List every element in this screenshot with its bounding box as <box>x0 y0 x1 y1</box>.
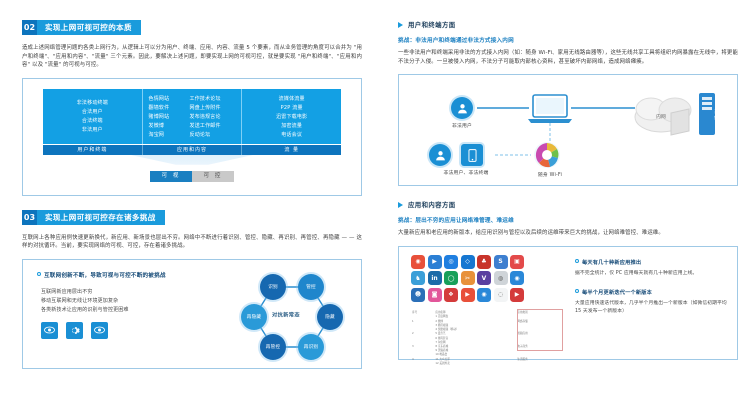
user-avatar-icon: ☻ <box>411 288 425 302</box>
figure-title: 互联网创新不断，导致可视与可控不断的被挑战 <box>44 273 166 279</box>
section-title: 实现上网可视可控存在诸多挑战 <box>37 210 165 225</box>
table-footer: 用户和终端 应用和内容 流 量 <box>43 144 341 155</box>
challenge-line: 挑战：非法用户和终端通过非法方式接入内网 <box>398 36 738 44</box>
table-column-apps: 色情网站 工作技术论坛 翻墙软件 网盘上传附件 赌博网站 发布违规言论 发微 <box>143 89 243 145</box>
cycle-node-reidentify: 再识别 <box>298 334 324 360</box>
cycle-diagram: 识别 管控 隐藏 再识别 再管控 再隐藏 对抗新常态 <box>227 268 345 362</box>
video-play-icon: ▶ <box>428 255 442 269</box>
pill-controllable[interactable]: 可 控 <box>192 171 234 182</box>
table-cell: 翻墙软件 <box>149 105 183 112</box>
table-cell: 发送工作邮件 <box>190 123 236 130</box>
table-cell: 迅雷下载电影 <box>276 114 307 121</box>
challenge-line: 挑战：层出不穷的应用让网络难管理、难运维 <box>398 216 738 224</box>
challenge-icon-row <box>41 322 108 339</box>
block2-paragraph: 大量新应用和老应用的新版本，给应用识别与管控以及后续的运维带来巨大的挑战，让网络… <box>398 229 738 238</box>
block1-paragraph: 一些非法用户和终端采用非法的方式接入内网（如：随身 Wi-Fi、家用无线路由器等… <box>398 49 738 66</box>
highlight-box <box>517 309 563 351</box>
table-column-users: 非法移动终端 合法用户 合法终端 非法用户 <box>43 89 143 145</box>
table-cell: P2P 流量 <box>281 105 303 112</box>
section-number: 02 <box>22 20 37 35</box>
table-cell <box>411 361 434 365</box>
table-cell: 发微博 <box>149 123 183 130</box>
play-store-icon: ▶ <box>461 288 475 302</box>
table-row: 翻墙软件 网盘上传附件 <box>147 105 238 112</box>
section-title: 实现上网可视可控的本质 <box>37 20 141 35</box>
note-body: 大量应用快速迭代版本，几乎半个月推出一个新版本（如微信初期平均 15 天发布一个… <box>575 300 729 315</box>
triangle-bullet-icon <box>398 22 403 28</box>
taobao-icon: ♞ <box>411 271 425 285</box>
table-row: 12 美团外卖 <box>411 361 563 365</box>
section-03-paragraph: 互联网上各种应用例快速更新换代，新应用、新场景也层出不穷。网络中不断进行着识别、… <box>22 234 362 251</box>
table-cell: 工作技术论坛 <box>190 96 236 103</box>
youtube-icon: ▶ <box>510 288 524 302</box>
note-heading: 每天有几十种新应用推出 <box>582 260 641 266</box>
camera-icon: ▣ <box>510 255 524 269</box>
label-illegal-user: 非法用户 <box>429 122 495 129</box>
table-cell: 非法移动终端 <box>77 100 108 107</box>
visibility-control-figure: 非法移动终端 合法用户 合法终端 非法用户 色情网站 工作技术论坛 翻墙软件 网… <box>22 78 362 196</box>
table-cell: 赌博网站 <box>149 114 183 121</box>
table-cell: 淘宝网 <box>149 132 183 139</box>
table-cell: 发布违规言论 <box>190 114 236 121</box>
list-item: 各类新技术让应用的识别与管控更困难 <box>41 306 129 315</box>
table-cell: 色情网站 <box>149 96 183 103</box>
sina-weibo-icon: ◉ <box>411 255 425 269</box>
safari-icon: ◉ <box>510 271 524 285</box>
table-row: 色情网站 工作技术论坛 <box>147 96 238 103</box>
subsection-title: 用户和终端方面 <box>408 20 456 29</box>
note-body: 据不完全统计，仅 PC 应用每天就有几十种新应用上线。 <box>575 270 729 278</box>
challenge-bullet-list: 互联网新应用层出不穷 移动互联网和无线让环境更加复杂 各类新技术让应用的识别与管… <box>41 288 129 315</box>
cycle-node-hide: 隐藏 <box>317 304 343 330</box>
table-cell: 加密流量 <box>281 123 302 130</box>
label-system-server: 系统 <box>695 109 719 121</box>
subsection-title: 应用和内容方面 <box>408 200 456 209</box>
vimeo-icon: V <box>477 271 491 285</box>
table-row: 淘宝网 反动论坛 <box>147 132 238 139</box>
triangle-bullet-icon <box>398 202 403 208</box>
footer-label-apps: 应用和内容 <box>143 145 243 155</box>
table-cell: 电话会议 <box>281 132 302 139</box>
note-heading-wrap: 每半个月更新迭代一个新版本 <box>575 289 729 296</box>
cycle-node-control: 管控 <box>298 274 324 300</box>
tools-icon: ✂ <box>461 271 475 285</box>
table-cell: 流媒体流量 <box>279 96 305 103</box>
color-app-icon: ❖ <box>444 288 458 302</box>
google-icon: ◌ <box>494 288 508 302</box>
gear-icon <box>66 322 83 339</box>
bullet-dot-icon <box>575 259 579 263</box>
table-row: 赌博网站 发布违规言论 <box>147 114 238 121</box>
cycle-node-identify: 识别 <box>260 274 286 300</box>
list-item: 移动互联网和无线让环境更加复杂 <box>41 297 129 306</box>
label-portable-wifi: 随身 Wi-Fi <box>519 171 581 178</box>
cycle-node-recontrol: 再管控 <box>260 334 286 360</box>
table-cell <box>516 361 556 365</box>
note-heading-wrap: 每天有几十种新应用推出 <box>575 259 729 266</box>
table-cell: 合法用户 <box>82 109 103 116</box>
table-column-traffic: 流媒体流量 P2P 流量 迅雷下载电影 加密流量 电话会议 <box>242 89 341 145</box>
right-column: 用户和终端方面 挑战：非法用户和终端通过非法方式接入内网 一些非法用户和终端采用… <box>398 20 738 360</box>
visibility-control-pills: 可 视 可 控 <box>150 171 234 182</box>
footer-label-traffic: 流 量 <box>242 145 341 155</box>
mobile-device-icon <box>461 144 483 166</box>
app-icon-grid: ◉▶◎◇♣S▣♞in◯✂V◍◉☻◙❖▶◉◌▶ <box>411 255 524 302</box>
label-intranet-cloud: 内网 <box>641 113 681 120</box>
section-number: 03 <box>22 210 37 225</box>
table-cell: 反动论坛 <box>190 132 236 139</box>
app-notes: 每天有几十种新应用推出 据不完全统计，仅 PC 应用每天就有几十种新应用上线。 … <box>575 259 729 328</box>
table-cell: 合法终端 <box>82 118 103 125</box>
messenger-icon: ◯ <box>444 271 458 285</box>
list-item: 互联网新应用层出不穷 <box>41 288 129 297</box>
table-cell <box>556 361 563 365</box>
figure-title-wrap: 互联网创新不断，导致可视与可控不断的被挑战 <box>37 271 166 279</box>
settings-icon: ◉ <box>477 288 491 302</box>
note-heading: 每半个月更新迭代一个新版本 <box>582 290 652 296</box>
elements-table: 非法移动终端 合法用户 合法终端 非法用户 色情网站 工作技术论坛 翻墙软件 网… <box>43 89 341 156</box>
table-row: 发微博 发送工作邮件 <box>147 123 238 130</box>
cycle-node-rehide: 再隐藏 <box>241 304 267 330</box>
label-illegal-user-device: 非法用户、非法终端 <box>411 169 521 176</box>
wechat-icon: ♣ <box>477 255 491 269</box>
subsection-header-users: 用户和终端方面 <box>398 20 738 29</box>
subsection-header-apps: 应用和内容方面 <box>398 200 738 209</box>
network-topology-figure: 非法用户 非法用户、非法终端 随身 Wi-Fi 内网 系统 <box>398 74 738 186</box>
alipay-icon: ◇ <box>461 255 475 269</box>
table-cell: 网盘上传附件 <box>190 105 236 112</box>
left-column: 02 实现上网可视可控的本质 造成上述网络管理问题的各类上网行为，从逻辑上可以分… <box>22 20 362 369</box>
eye-icon <box>91 322 108 339</box>
bullet-dot-icon <box>37 272 41 276</box>
chrome-icon: ◍ <box>494 271 508 285</box>
instagram-icon: ◙ <box>428 288 442 302</box>
infographic-page: 02 实现上网可视可控的本质 造成上述网络管理问题的各类上网行为，从逻辑上可以分… <box>0 0 750 407</box>
app-explosion-figure: ◉▶◎◇♣S▣♞in◯✂V◍◉☻◙❖▶◉◌▶ 序号应用名称应用类别1 百度网盘1… <box>398 246 738 360</box>
bullet-dot-icon <box>575 289 579 293</box>
section-header-03: 03 实现上网可视可控存在诸多挑战 <box>22 210 362 225</box>
cycle-center-label: 对抗新常态 <box>272 311 300 318</box>
table-cell: 12 美团外卖 <box>434 361 516 365</box>
pill-visible[interactable]: 可 视 <box>150 171 192 182</box>
table-cell: 非法用户 <box>82 127 103 134</box>
footer-label-users: 用户和终端 <box>43 145 143 155</box>
linkedin-icon: in <box>428 271 442 285</box>
section-02-paragraph: 造成上述网络管理问题的各类上网行为，从逻辑上可以分为用户、终端、应用、内容、流量… <box>22 44 362 70</box>
qq-browser-icon: ◎ <box>444 255 458 269</box>
eye-icon <box>41 322 58 339</box>
section-header-02: 02 实现上网可视可控的本质 <box>22 20 362 35</box>
skype-icon: S <box>494 255 508 269</box>
challenges-figure: 互联网创新不断，导致可视与可控不断的被挑战 互联网新应用层出不穷 移动互联网和无… <box>22 259 362 369</box>
